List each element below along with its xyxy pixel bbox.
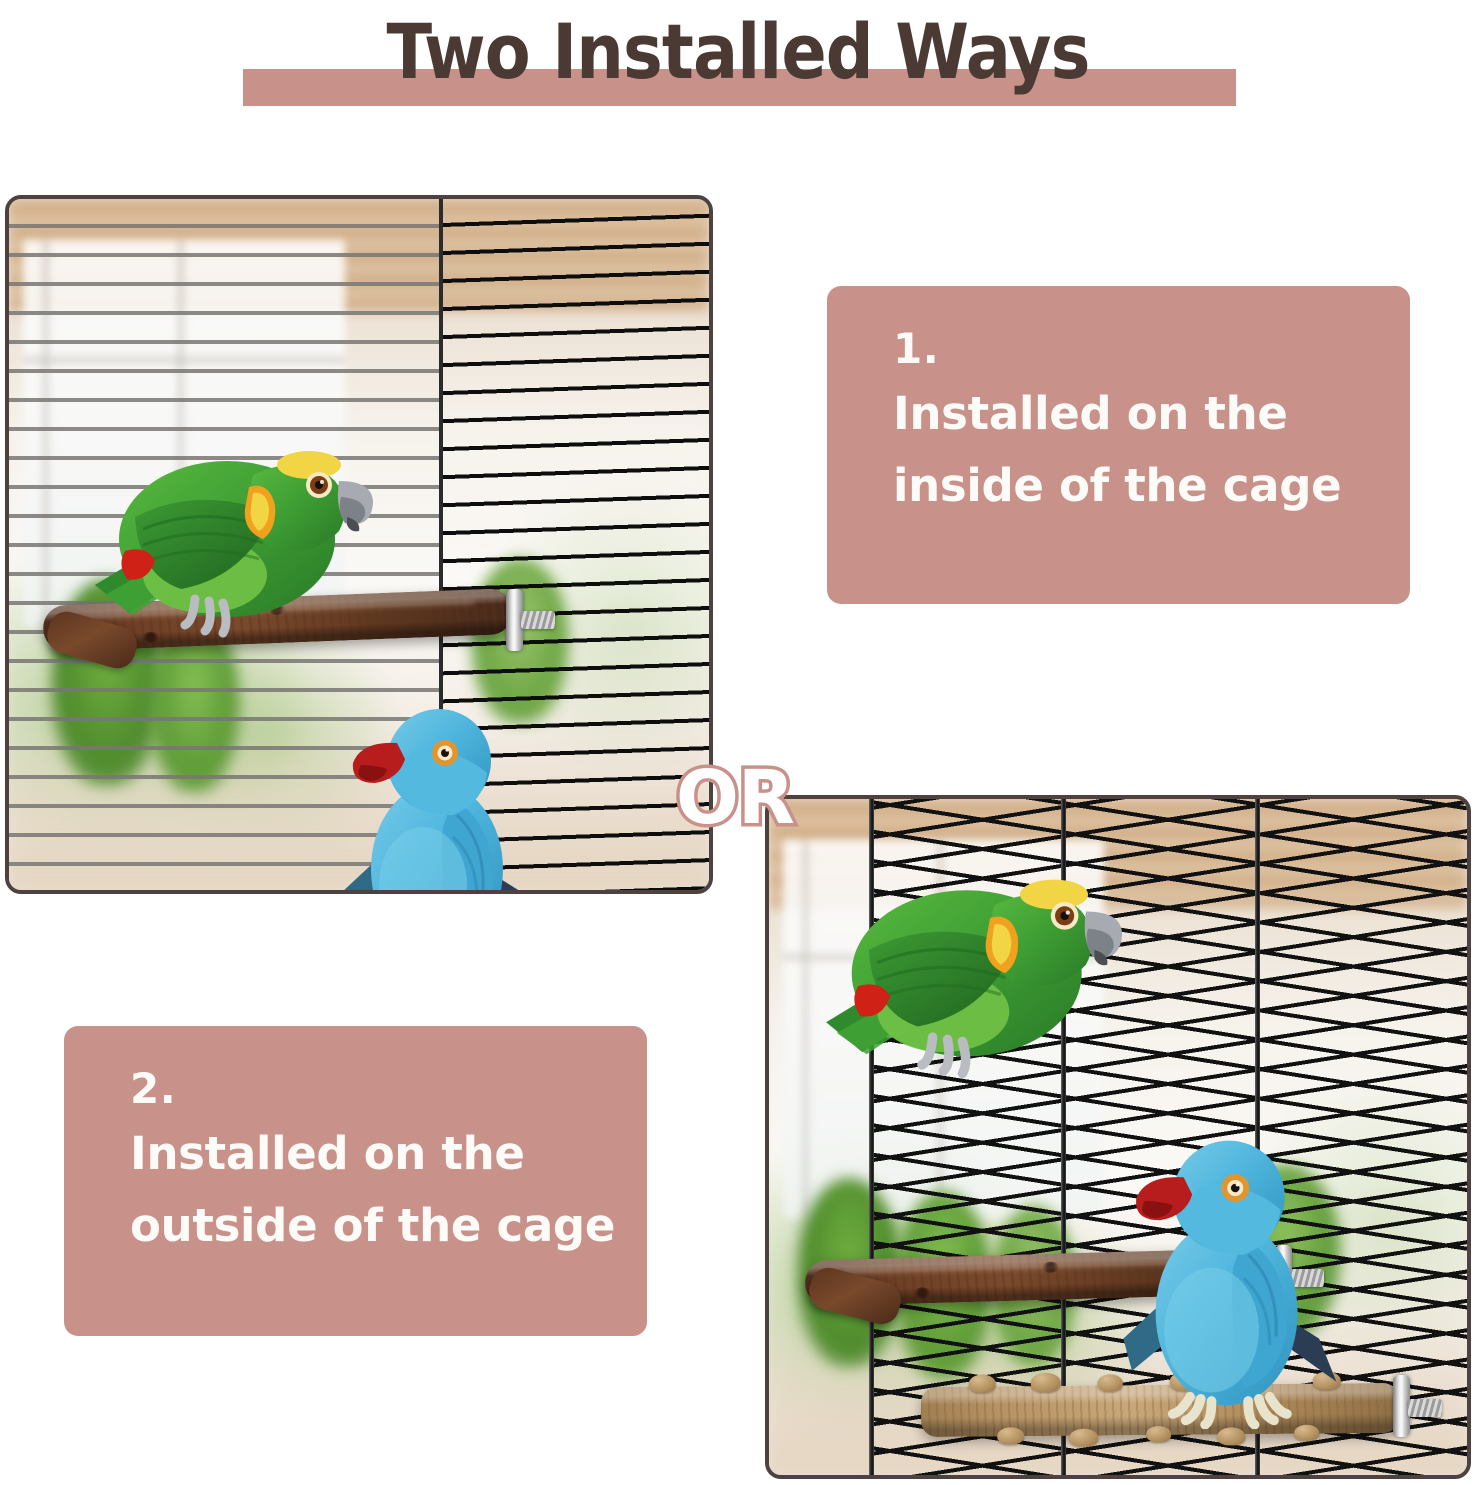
callout-box-inside: 1. Installed on the inside of the cage bbox=[827, 286, 1410, 604]
blue-ringneck-parakeet bbox=[327, 687, 557, 890]
page-title: Two Installed Ways bbox=[89, 2, 1388, 102]
perch-knob bbox=[1218, 1427, 1246, 1445]
callout-number: 2. bbox=[130, 1060, 647, 1118]
callout-line-1: Installed on the bbox=[130, 1118, 647, 1190]
branch-knot bbox=[1043, 1262, 1059, 1273]
photo-panel-inside-mount bbox=[5, 195, 713, 894]
perch-knob bbox=[968, 1374, 995, 1392]
mount-screw-upper bbox=[521, 611, 555, 629]
page-header: Two Installed Ways bbox=[0, 0, 1476, 130]
callout-box-outside: 2. Installed on the outside of the cage bbox=[64, 1026, 647, 1336]
blue-ringneck-parakeet bbox=[1107, 1117, 1357, 1429]
green-amazon-parrot bbox=[807, 813, 1137, 1091]
callout-line-1: Installed on the bbox=[893, 378, 1410, 450]
callout-number: 1. bbox=[893, 320, 1410, 378]
perch-knob bbox=[998, 1427, 1025, 1444]
perch-knob bbox=[1031, 1373, 1061, 1392]
branch-knot bbox=[915, 1287, 931, 1298]
photo-panel-outside-mount bbox=[765, 795, 1471, 1479]
callout-line-2: inside of the cage bbox=[893, 450, 1410, 522]
mount-screw-lower bbox=[1408, 1399, 1442, 1417]
infographic-root: Two Installed Ways bbox=[0, 0, 1476, 1485]
callout-line-2: outside of the cage bbox=[130, 1190, 647, 1262]
perch-knob bbox=[1069, 1429, 1098, 1447]
cage-scene-inside bbox=[9, 199, 709, 890]
green-amazon-parrot bbox=[77, 389, 387, 649]
or-connector-label: OR bbox=[676, 755, 794, 841]
cage-scene-outside bbox=[769, 799, 1467, 1475]
